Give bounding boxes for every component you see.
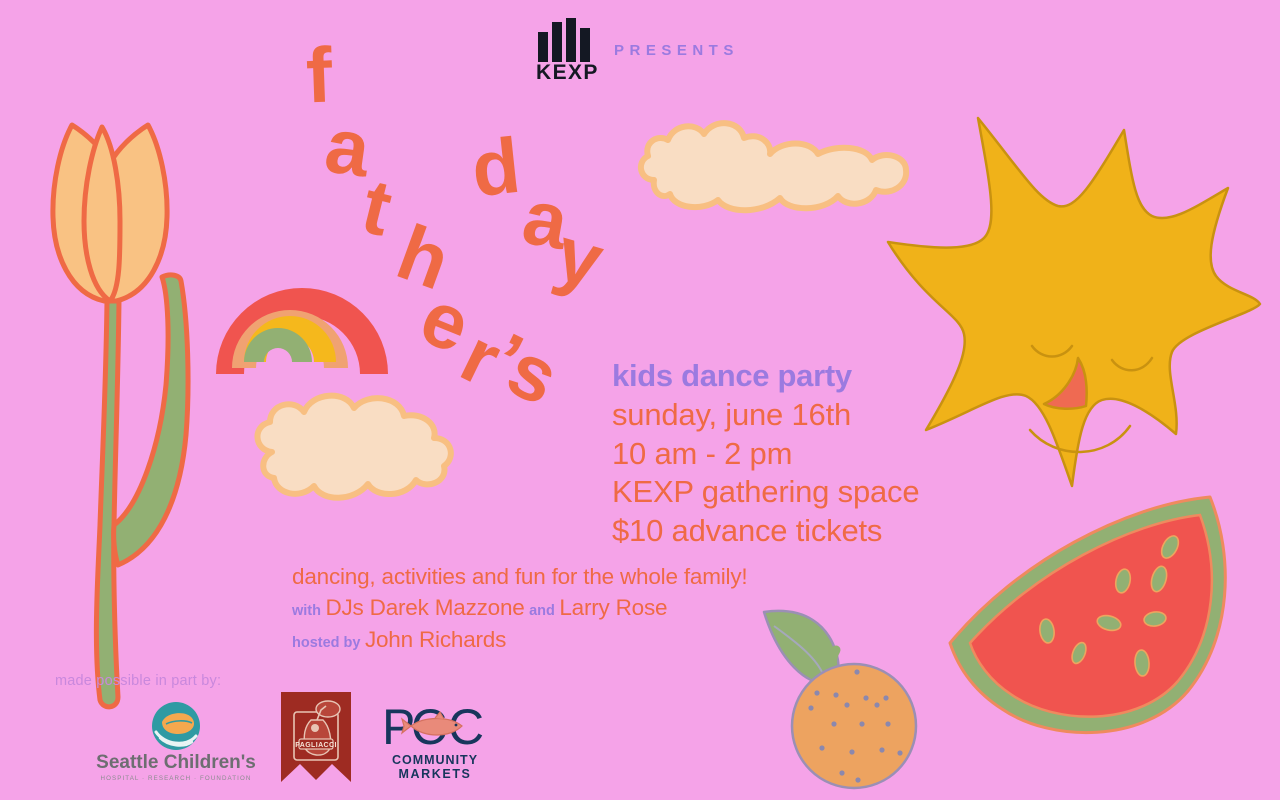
event-info-block: kids dance party sunday, june 16th 10 am… xyxy=(612,357,1012,551)
presents-label: PRESENTS xyxy=(614,42,739,59)
kexp-logo: KEXP xyxy=(536,18,598,80)
sponsor-wordmark-seattle-childrens: Seattle Children's xyxy=(96,752,256,773)
kexp-wordmark: KEXP xyxy=(536,61,599,84)
sponsor-tagline-pcc-2: MARKETS xyxy=(398,767,471,781)
credits-with-label: with xyxy=(292,603,321,619)
credits-host-name: John Richards xyxy=(365,627,506,652)
event-price: $10 advance tickets xyxy=(612,512,1012,551)
sponsor-logo-seattle-childrens: Seattle Children's HOSPITAL · RESEARCH ·… xyxy=(100,702,252,784)
credits-host-row: hosted by John Richards xyxy=(292,624,912,656)
credits-dj-second: Larry Rose xyxy=(559,595,667,620)
cloud-left-icon xyxy=(248,388,473,513)
sponsor-tagline-pcc-1: COMMUNITY xyxy=(392,753,478,767)
poster-canvas: KEXP PRESENTS xyxy=(0,0,1280,800)
rainbow-icon xyxy=(214,248,394,378)
event-venue: KEXP gathering space xyxy=(612,473,1012,512)
title-letter-a1: a xyxy=(321,105,375,188)
sponsor-wordmark-pagliacci: PAGLIACCI xyxy=(295,742,337,749)
sponsor-logo-pcc: P C C COMMUNITY MARKETS xyxy=(380,700,490,782)
credits-dj-row: with DJs Darek Mazzone and Larry Rose xyxy=(292,592,912,624)
tulip-icon xyxy=(40,105,215,605)
cloud-top-icon xyxy=(632,116,917,221)
credits-and-label: and xyxy=(529,603,555,619)
sponsor-tagline-seattle-childrens: HOSPITAL · RESEARCH · FOUNDATION xyxy=(101,775,252,782)
credits-hosted-label: hosted by xyxy=(292,635,360,651)
event-time: 10 am - 2 pm xyxy=(612,435,1012,474)
title-letter-d: d xyxy=(468,126,524,209)
credits-dj-names: DJs Darek Mazzone xyxy=(325,595,524,620)
event-date: sunday, june 16th xyxy=(612,396,1012,435)
credits-tagline: dancing, activities and fun for the whol… xyxy=(292,562,912,592)
credits-block: dancing, activities and fun for the whol… xyxy=(292,562,912,656)
title-letter-f: f xyxy=(305,36,334,115)
sponsors-label: made possible in part by: xyxy=(55,673,221,689)
sponsor-logo-pagliacci: PAGLIACCI xyxy=(281,692,351,782)
event-headline: kids dance party xyxy=(612,357,1012,396)
